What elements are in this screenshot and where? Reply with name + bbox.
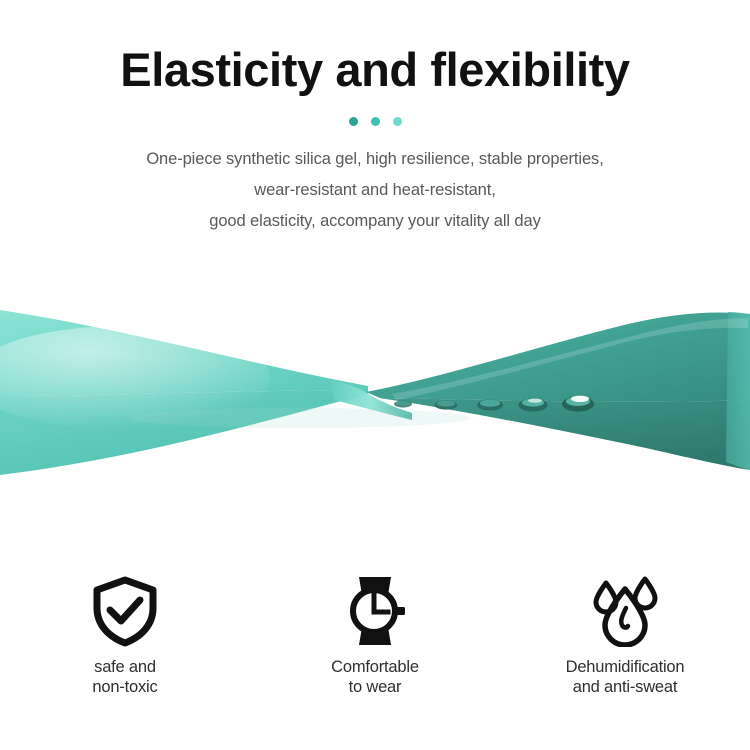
- adjustment-hole-3: [477, 399, 503, 410]
- dot-3: [393, 117, 402, 126]
- adjustment-hole-2: [435, 400, 458, 409]
- wristwatch-icon: [339, 575, 411, 647]
- feature-label-comfortable-to-wear: Comfortable to wear: [331, 657, 419, 697]
- adjustment-hole-1: [394, 400, 412, 407]
- shield-check-icon: [89, 575, 161, 647]
- feature-label-safe-non-toxic: safe and non-toxic: [92, 657, 157, 697]
- feature-dehumidification: Dehumidification and anti-sweat: [500, 575, 750, 697]
- feature-label-dehumidification: Dehumidification and anti-sweat: [566, 657, 685, 697]
- feature-comfortable-to-wear: Comfortable to wear: [250, 575, 500, 697]
- band-right-tip-edge: [726, 312, 750, 470]
- page-title: Elasticity and flexibility: [0, 0, 750, 96]
- band-contact-shadow: [130, 408, 470, 428]
- water-droplets-icon: [589, 575, 661, 647]
- subtitle-line-3: good elasticity, accompany your vitality…: [0, 206, 750, 237]
- adjustment-hole-4: [519, 398, 548, 411]
- product-photo: [0, 268, 750, 518]
- feature-safe-non-toxic: safe and non-toxic: [0, 575, 250, 697]
- header-block: Elasticity and flexibility One-piece syn…: [0, 0, 750, 237]
- twisted-band-illustration: [0, 268, 750, 518]
- band-right-lower-face: [366, 396, 750, 470]
- subtitle-line-2: wear-resistant and heat-resistant,: [0, 175, 750, 206]
- subtitle-line-1: One-piece synthetic silica gel, high res…: [0, 144, 750, 175]
- dot-1: [349, 117, 358, 126]
- feature-row: safe and non-toxic Comfortable to we: [0, 575, 750, 697]
- dot-2: [371, 117, 380, 126]
- subtitle-block: One-piece synthetic silica gel, high res…: [0, 144, 750, 237]
- dot-separator: [0, 117, 750, 127]
- product-feature-page: Elasticity and flexibility One-piece syn…: [0, 0, 750, 750]
